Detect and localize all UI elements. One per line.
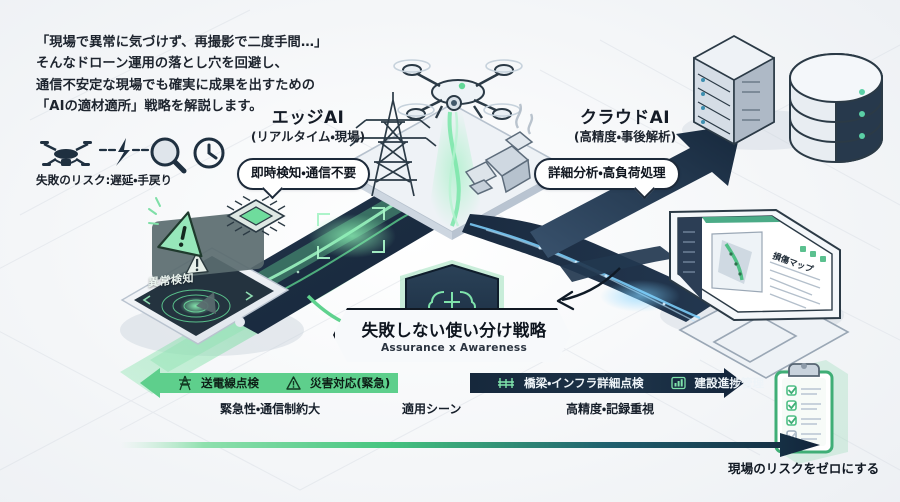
edge-ai-bubble: 即時検知・通信不要 (237, 158, 370, 190)
legend-left-label-0: 送電線点検 (201, 375, 259, 391)
legend-left-label-1: 災害対応(緊急) (310, 375, 390, 391)
edge-ai-bubble-text: 即時検知・通信不要 (251, 165, 356, 180)
drone-icon-small (40, 141, 92, 166)
strategy-tagline: Assurance x Awareness (381, 342, 527, 354)
cloud-ai-title: クラウドAI (530, 108, 720, 128)
warning-icon (286, 376, 301, 390)
monitor-icon (670, 210, 848, 378)
lightning-icon (100, 138, 148, 166)
infographic-canvas: 損傷マップ (0, 0, 900, 502)
legend-left-items: 送電線点検 災害対応(緊急) (178, 372, 390, 394)
legend-left-sub: 緊急性・通信制約大 (220, 400, 320, 417)
risk-caption: 失敗のリスク:遅延・手戻り (36, 172, 172, 188)
cloud-ai-bubble-text: 詳細分析・高負荷処理 (548, 165, 666, 180)
outcome-arrow (120, 432, 820, 458)
legend-right-label-0: 橋梁・インフラ詳細点検 (524, 375, 644, 391)
database-icon (790, 54, 882, 162)
magnifier-icon (152, 139, 184, 171)
legend-right-items: 橋梁・インフラ詳細点検 建設進捗管理 (497, 372, 764, 394)
cloud-ai-title-group: クラウドAI (高精度・事後解析) (530, 108, 720, 146)
strategy-title: 失敗しない使い分け戦略 (362, 321, 547, 340)
edge-ai-subtitle: (リアルタイム・現場) (228, 128, 388, 146)
edge-ai-title: エッジAI (228, 108, 388, 128)
cloud-ai-subtitle: (高精度・事後解析) (530, 128, 720, 146)
risk-icon-row (40, 138, 223, 171)
edge-ai-title-group: エッジAI (リアルタイム・現場) (228, 108, 388, 146)
scene-label: 適用シーン (402, 400, 461, 417)
cloud-ai-bubble: 詳細分析・高負荷処理 (534, 158, 680, 190)
page-headline: 「現場で異常に気づけず、再撮影で二度手間…」 そんなドローン運用の落とし穴を回避… (36, 32, 366, 118)
bridge-icon (497, 376, 515, 390)
outcome-caption: 現場のリスクをゼロにする (728, 458, 879, 477)
legend-right-label-1: 建設進捗管理 (695, 375, 765, 391)
legend-right-sub: 高精度・記録重視 (566, 400, 654, 417)
chart-icon (671, 376, 686, 390)
strategy-banner: 失敗しない使い分け戦略 Assurance x Awareness (333, 308, 575, 366)
clock-icon (195, 139, 223, 167)
strategy-badge: 失敗しない使い分け戦略 Assurance x Awareness (333, 258, 571, 362)
pylon-icon (178, 375, 192, 391)
